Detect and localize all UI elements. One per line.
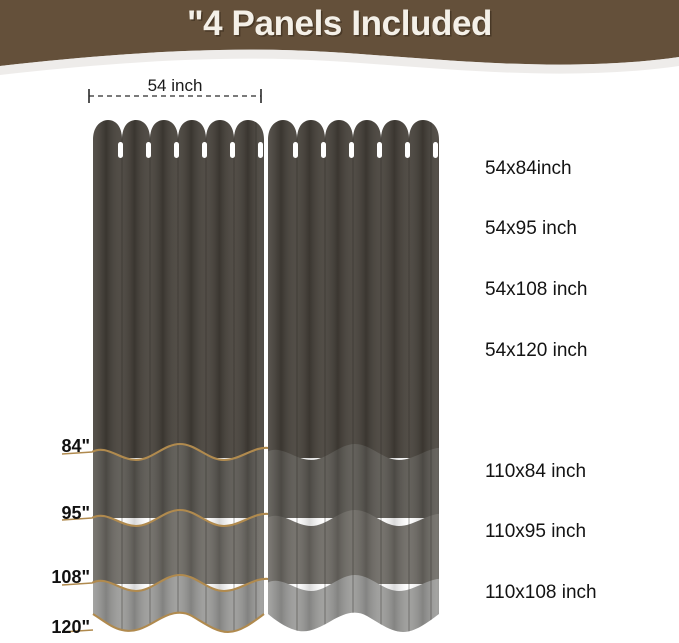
height-label-120: 120" <box>0 617 90 638</box>
height-label-95: 95" <box>10 503 90 524</box>
header-banner: "4 Panels Included <box>0 0 679 82</box>
size-option-54x95: 54x95 inch <box>485 218 577 240</box>
size-option-110x84: 110x84 inch <box>485 461 586 483</box>
size-option-54x84: 54x84inch <box>485 158 572 180</box>
height-label-84: 84" <box>10 436 90 457</box>
size-option-54x120: 54x120 inch <box>485 340 587 362</box>
width-dimension: 54 inch <box>85 76 275 110</box>
infographic-canvas: "4 Panels Included 54 inch <box>0 0 679 643</box>
size-option-110x108: 110x108 inch <box>485 582 597 604</box>
size-option-110x95: 110x95 inch <box>485 521 586 543</box>
width-dimension-line <box>85 76 275 110</box>
height-label-108: 108" <box>0 567 90 588</box>
size-option-54x108: 54x108 inch <box>485 279 587 301</box>
height-leader-lines <box>0 118 460 643</box>
page-title: "4 Panels Included <box>0 4 679 44</box>
